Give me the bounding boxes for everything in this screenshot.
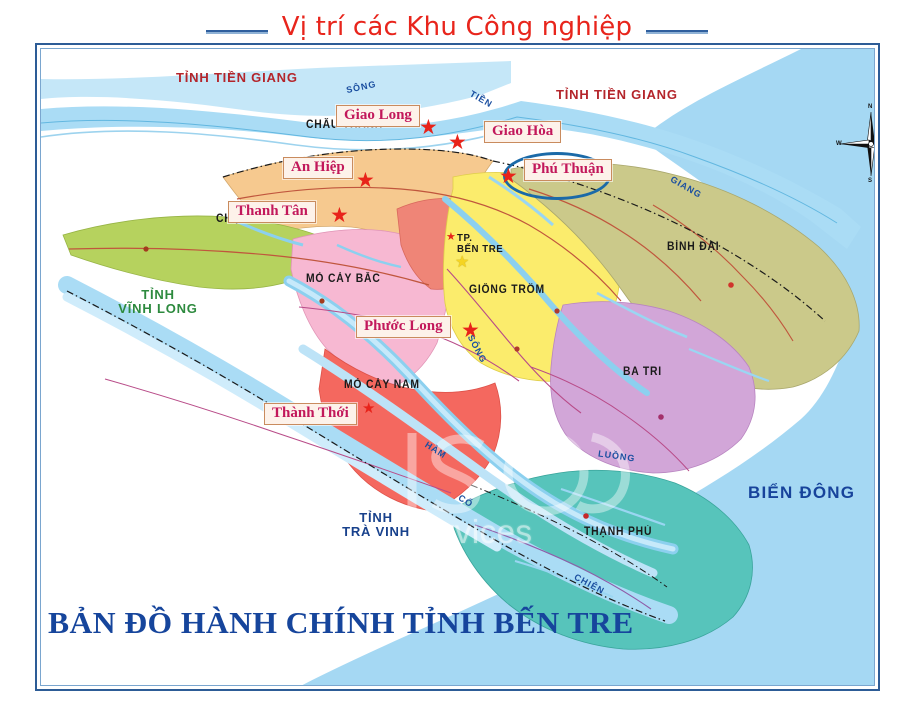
map-page: Vị trí các Khu Công nghiệp — [0, 0, 914, 720]
compass-label-west: W — [836, 141, 842, 147]
compass-label-south: S — [868, 178, 872, 184]
title-bar: Vị trí các Khu Công nghiệp — [0, 12, 914, 42]
page-title: Vị trí các Khu Công nghiệp — [282, 12, 632, 42]
title-rule-right — [646, 30, 708, 34]
compass-rose: N E S W — [836, 104, 875, 186]
map-canvas[interactable]: Services TỈNH TIỀN GIANG TỈNH TIỀN GIANG… — [41, 49, 874, 685]
bottom-caption: BẢN ĐỒ HÀNH CHÍNH TỈNH BẾN TRE — [48, 605, 634, 641]
industrial-zone-phuoc-long[interactable]: Phước Long — [356, 316, 451, 338]
title-rule-left — [206, 30, 268, 34]
capital-label: TP. BẾN TRE — [457, 233, 503, 255]
industrial-zone-giao-hoa[interactable]: Giao Hòa — [484, 121, 561, 143]
capital-marker-icon: ★ — [446, 232, 456, 243]
map-graphic — [41, 49, 875, 686]
capital-star-icon: ★ — [455, 255, 469, 271]
map-frame-inner: Services TỈNH TIỀN GIANG TỈNH TIỀN GIANG… — [40, 48, 875, 686]
compass-label-north: N — [868, 104, 872, 110]
industrial-zone-an-hiep[interactable]: An Hiệp — [283, 157, 353, 179]
industrial-zone-phu-thuan[interactable]: Phú Thuận — [524, 159, 612, 181]
map-frame: Services TỈNH TIỀN GIANG TỈNH TIỀN GIANG… — [35, 43, 880, 691]
industrial-zone-giao-long[interactable]: Giao Long — [336, 105, 420, 127]
industrial-zone-thanh-thoi[interactable]: Thành Thới — [264, 403, 357, 425]
industrial-zone-thanh-tan[interactable]: Thanh Tân — [228, 201, 316, 223]
